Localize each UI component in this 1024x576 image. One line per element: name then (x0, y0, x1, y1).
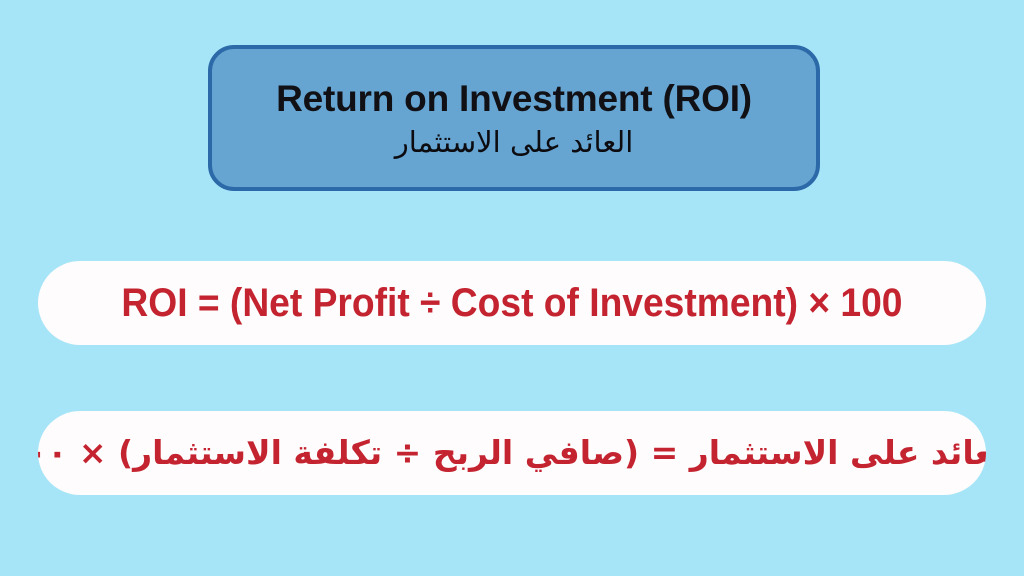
title-arabic: العائد على الاستثمار (395, 124, 634, 160)
formula-arabic: العائد على الاستثمار = (صافي الربح ÷ تكل… (38, 435, 986, 471)
formula-card-english: ROI = (Net Profit ÷ Cost of Investment) … (38, 261, 986, 345)
formula-english: ROI = (Net Profit ÷ Cost of Investment) … (121, 283, 902, 323)
formula-card-arabic: العائد على الاستثمار = (صافي الربح ÷ تكل… (38, 411, 986, 495)
title-card: Return on Investment (ROI) العائد على ال… (208, 45, 820, 191)
slide-canvas: Return on Investment (ROI) العائد على ال… (0, 0, 1024, 576)
title-english: Return on Investment (ROI) (276, 78, 752, 119)
